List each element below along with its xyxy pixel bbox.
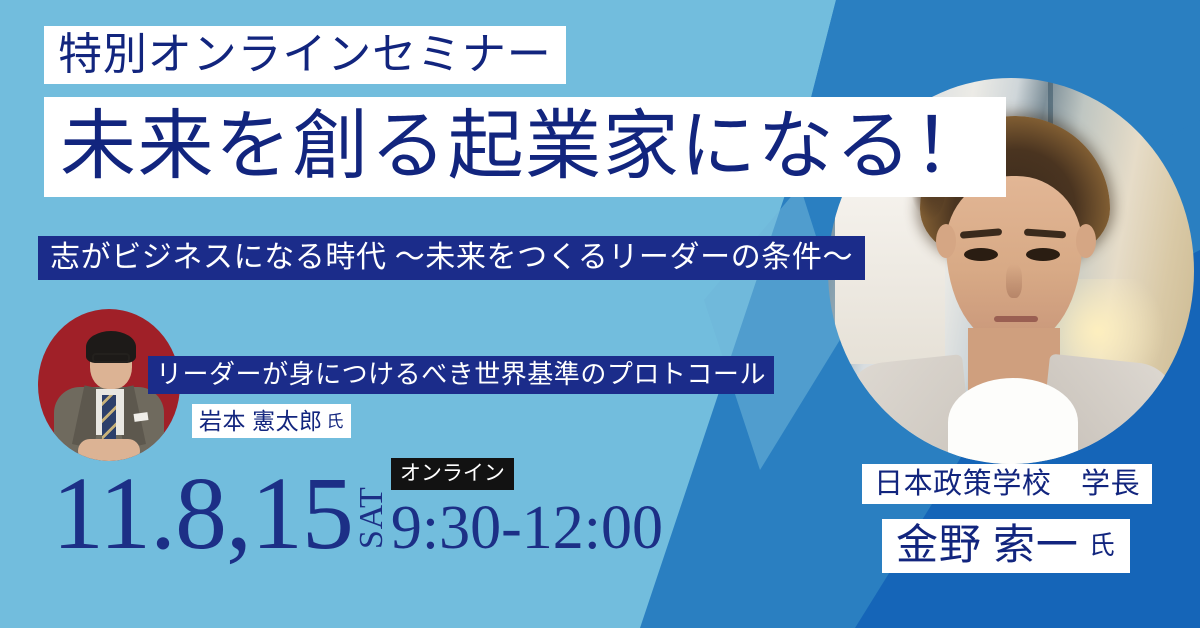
eye-shape: [964, 248, 998, 261]
event-dates: 11.8,15: [52, 470, 353, 557]
speaker-left-name-box: 岩本 憲太郎 氏: [192, 404, 351, 438]
speaker-left-name-text: 岩本 憲太郎: [199, 410, 323, 433]
speaker-right-honorific: 氏: [1089, 533, 1116, 559]
speaker-right-affiliation: 日本政策学校 学長: [862, 464, 1152, 504]
speaker-left-honorific: 氏: [327, 413, 344, 430]
event-time: 9:30-12:00: [391, 494, 663, 562]
kicker-banner: 特別オンラインセミナー: [44, 26, 566, 84]
nose-shape: [1006, 264, 1022, 298]
shirt-shape: [948, 378, 1078, 464]
eye-shape: [1026, 248, 1060, 261]
ear-shape: [936, 224, 956, 258]
seminar-poster: 特別オンラインセミナー 未来を創る起業家になる！ 志がビジネスになる時代 ～未来…: [0, 0, 1200, 628]
mouth-shape: [994, 316, 1038, 322]
headline-banner: 未来を創る起業家になる！: [44, 97, 1006, 197]
speaker-right-name-box: 金野 索一 氏: [882, 519, 1130, 573]
time-wrapper: オンライン 9:30-12:00: [391, 500, 663, 557]
speaker-right-name-text: 金野 索一: [896, 525, 1079, 567]
schedule-block: 11.8,15 SAT オンライン 9:30-12:00: [52, 470, 663, 557]
online-format-badge: オンライン: [391, 458, 514, 490]
event-day-of-week: SAT: [355, 475, 389, 549]
ear-shape: [1076, 224, 1096, 258]
subtitle-banner: 志がビジネスになる時代 ～未来をつくるリーダーの条件～: [38, 236, 865, 280]
topic-banner: リーダーが身につけるべき世界基準のプロトコール: [148, 356, 774, 394]
glasses-icon: [92, 353, 130, 363]
